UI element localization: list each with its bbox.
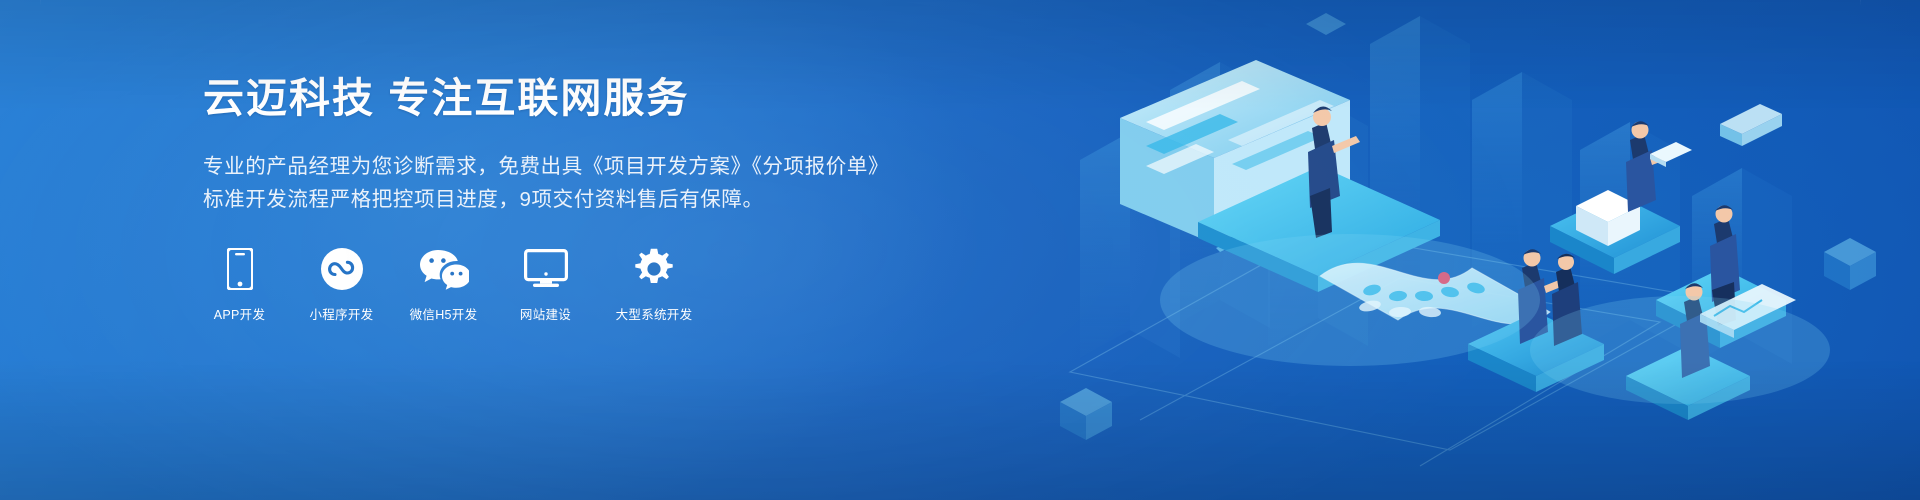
banner-subtitle: 专业的产品经理为您诊断需求，免费出具《项目开发方案》《分项报价单》 标准开发流程… xyxy=(203,150,903,216)
service-item-large-system[interactable]: 大型系统开发 xyxy=(611,246,697,323)
service-label-large-system: 大型系统开发 xyxy=(616,307,693,323)
service-label-wechat-h5: 微信H5开发 xyxy=(410,307,478,323)
service-label-website: 网站建设 xyxy=(520,307,571,323)
service-item-mini-program[interactable]: 小程序开发 xyxy=(305,246,378,323)
subtitle-line-2: 标准开发流程严格把控项目进度，9项交付资料售后有保障。 xyxy=(203,183,903,216)
service-item-website[interactable]: 网站建设 xyxy=(509,246,582,323)
gear-icon xyxy=(633,246,675,292)
mini-program-icon xyxy=(321,246,363,292)
service-list: APP开发 小程序开发 xyxy=(203,246,903,323)
monitor-icon xyxy=(524,246,568,292)
banner-copy: 云迈科技 专注互联网服务 专业的产品经理为您诊断需求，免费出具《项目开发方案》《… xyxy=(203,72,903,323)
wechat-icon xyxy=(419,246,469,292)
smartphone-icon xyxy=(227,246,253,292)
service-item-app[interactable]: APP开发 xyxy=(203,246,276,323)
hero-banner: 云迈科技 专注互联网服务 专业的产品经理为您诊断需求，免费出具《项目开发方案》《… xyxy=(0,0,1920,500)
isometric-illustration xyxy=(1020,0,1920,500)
service-label-app: APP开发 xyxy=(214,307,266,323)
service-label-mini-program: 小程序开发 xyxy=(309,307,373,323)
banner-title: 云迈科技 专注互联网服务 xyxy=(203,72,903,124)
service-item-wechat-h5[interactable]: 微信H5开发 xyxy=(407,246,480,323)
subtitle-line-1: 专业的产品经理为您诊断需求，免费出具《项目开发方案》《分项报价单》 xyxy=(203,150,903,183)
